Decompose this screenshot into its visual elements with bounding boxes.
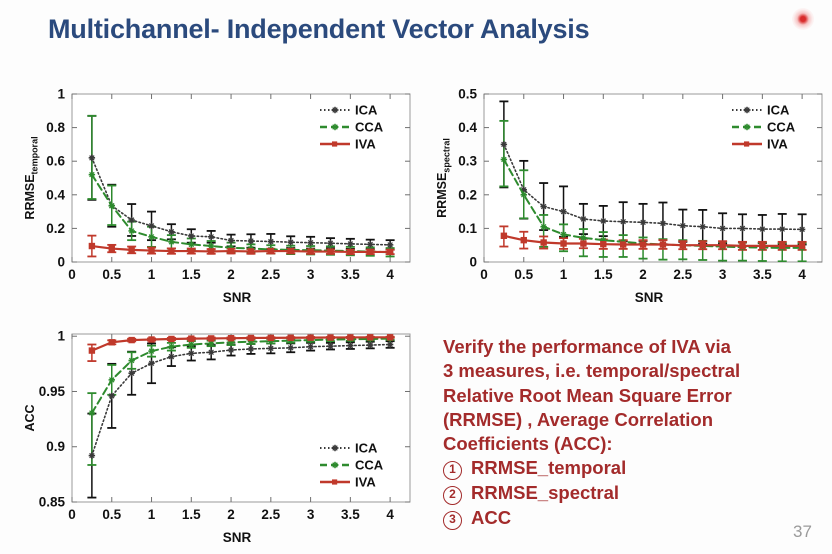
svg-text:2: 2 — [227, 507, 235, 522]
list-item: 1 RRMSE_temporal — [443, 456, 831, 481]
svg-text:2: 2 — [227, 267, 235, 282]
summary-line: Coefficients (ACC): — [443, 432, 831, 456]
svg-text:CCA: CCA — [355, 458, 384, 473]
svg-text:1: 1 — [57, 87, 65, 102]
record-dot-icon — [792, 8, 814, 30]
summary-line: 3 measures, i.e. temporal/spectral — [443, 359, 831, 383]
circled-number-icon: 3 — [443, 511, 462, 530]
page-number: 37 — [793, 522, 812, 542]
svg-text:0.2: 0.2 — [46, 221, 65, 236]
page-title: Multichannel- Independent Vector Analysi… — [48, 14, 589, 45]
svg-text:1.5: 1.5 — [594, 267, 613, 282]
svg-text:0.5: 0.5 — [102, 267, 121, 282]
chart-rrmse-spectral-svg: 00.511.522.533.5400.10.20.30.40.5SNRRRMS… — [430, 82, 830, 308]
list-item-label: RRMSE_temporal — [471, 456, 626, 480]
svg-text:0.1: 0.1 — [458, 221, 477, 236]
chart-rrmse-temporal-svg: 00.511.522.533.5400.20.40.60.81SNRRRMSEt… — [18, 82, 418, 308]
svg-text:1.5: 1.5 — [182, 507, 201, 522]
svg-text:ICA: ICA — [355, 103, 378, 118]
svg-text:3: 3 — [307, 507, 315, 522]
chart-acc: 00.511.522.533.540.850.90.951SNRACCICACC… — [18, 322, 418, 548]
svg-text:0.2: 0.2 — [458, 187, 477, 202]
svg-text:0.5: 0.5 — [458, 87, 477, 102]
list-item: 3 ACC — [443, 506, 831, 531]
svg-text:IVA: IVA — [355, 475, 376, 490]
svg-text:0.95: 0.95 — [39, 384, 66, 399]
list-item: 2 RRMSE_spectral — [443, 481, 831, 506]
svg-text:3: 3 — [719, 267, 727, 282]
svg-text:0: 0 — [480, 267, 488, 282]
svg-text:1: 1 — [560, 267, 568, 282]
svg-text:0.4: 0.4 — [458, 120, 477, 135]
svg-text:RRMSEspectral: RRMSEspectral — [435, 138, 452, 218]
chart-acc-svg: 00.511.522.533.540.850.90.951SNRACCICACC… — [18, 322, 418, 548]
svg-text:2.5: 2.5 — [673, 267, 692, 282]
svg-text:SNR: SNR — [635, 290, 664, 305]
svg-text:4: 4 — [386, 507, 394, 522]
svg-text:0: 0 — [68, 267, 76, 282]
svg-text:CCA: CCA — [355, 120, 384, 135]
svg-text:1: 1 — [57, 329, 65, 344]
svg-text:3.5: 3.5 — [341, 267, 360, 282]
svg-text:1: 1 — [148, 267, 156, 282]
svg-text:0.4: 0.4 — [46, 187, 65, 202]
svg-text:4: 4 — [798, 267, 806, 282]
slide-canvas: Multichannel- Independent Vector Analysi… — [0, 0, 832, 554]
svg-text:RRMSEtemporal: RRMSEtemporal — [23, 136, 40, 219]
chart-rrmse-spectral: 00.511.522.533.5400.10.20.30.40.5SNRRRMS… — [430, 82, 830, 308]
svg-text:0: 0 — [57, 255, 65, 270]
summary-line: Verify the performance of IVA via — [443, 335, 831, 359]
svg-text:3: 3 — [307, 267, 315, 282]
svg-text:1.5: 1.5 — [182, 267, 201, 282]
svg-text:0.9: 0.9 — [46, 439, 65, 454]
svg-text:2: 2 — [639, 267, 647, 282]
svg-text:2.5: 2.5 — [261, 267, 280, 282]
svg-text:0: 0 — [469, 255, 477, 270]
circled-number-icon: 1 — [443, 461, 462, 480]
svg-text:0.3: 0.3 — [458, 154, 477, 169]
svg-text:ICA: ICA — [767, 103, 790, 118]
svg-text:0.8: 0.8 — [46, 120, 65, 135]
svg-text:3.5: 3.5 — [753, 267, 772, 282]
svg-text:0.5: 0.5 — [102, 507, 121, 522]
svg-text:SNR: SNR — [223, 290, 252, 305]
svg-text:0.6: 0.6 — [46, 154, 65, 169]
circled-number-icon: 2 — [443, 486, 462, 505]
svg-text:0.85: 0.85 — [39, 495, 66, 510]
svg-text:4: 4 — [386, 267, 394, 282]
svg-text:IVA: IVA — [767, 137, 788, 152]
summary-line: Relative Root Mean Square Error — [443, 384, 831, 408]
svg-text:2.5: 2.5 — [261, 507, 280, 522]
svg-text:0: 0 — [68, 507, 76, 522]
svg-text:CCA: CCA — [767, 120, 796, 135]
svg-text:ACC: ACC — [23, 404, 37, 431]
list-item-label: ACC — [471, 506, 511, 530]
chart-rrmse-temporal: 00.511.522.533.5400.20.40.60.81SNRRRMSEt… — [18, 82, 418, 308]
list-item-label: RRMSE_spectral — [471, 481, 619, 505]
svg-text:ICA: ICA — [355, 441, 378, 456]
summary-text-block: Verify the performance of IVA via 3 meas… — [443, 335, 831, 531]
svg-text:3.5: 3.5 — [341, 507, 360, 522]
summary-line: (RRMSE) , Average Correlation — [443, 408, 831, 432]
svg-text:SNR: SNR — [223, 530, 252, 545]
svg-text:IVA: IVA — [355, 137, 376, 152]
svg-text:1: 1 — [148, 507, 156, 522]
svg-text:0.5: 0.5 — [514, 267, 533, 282]
